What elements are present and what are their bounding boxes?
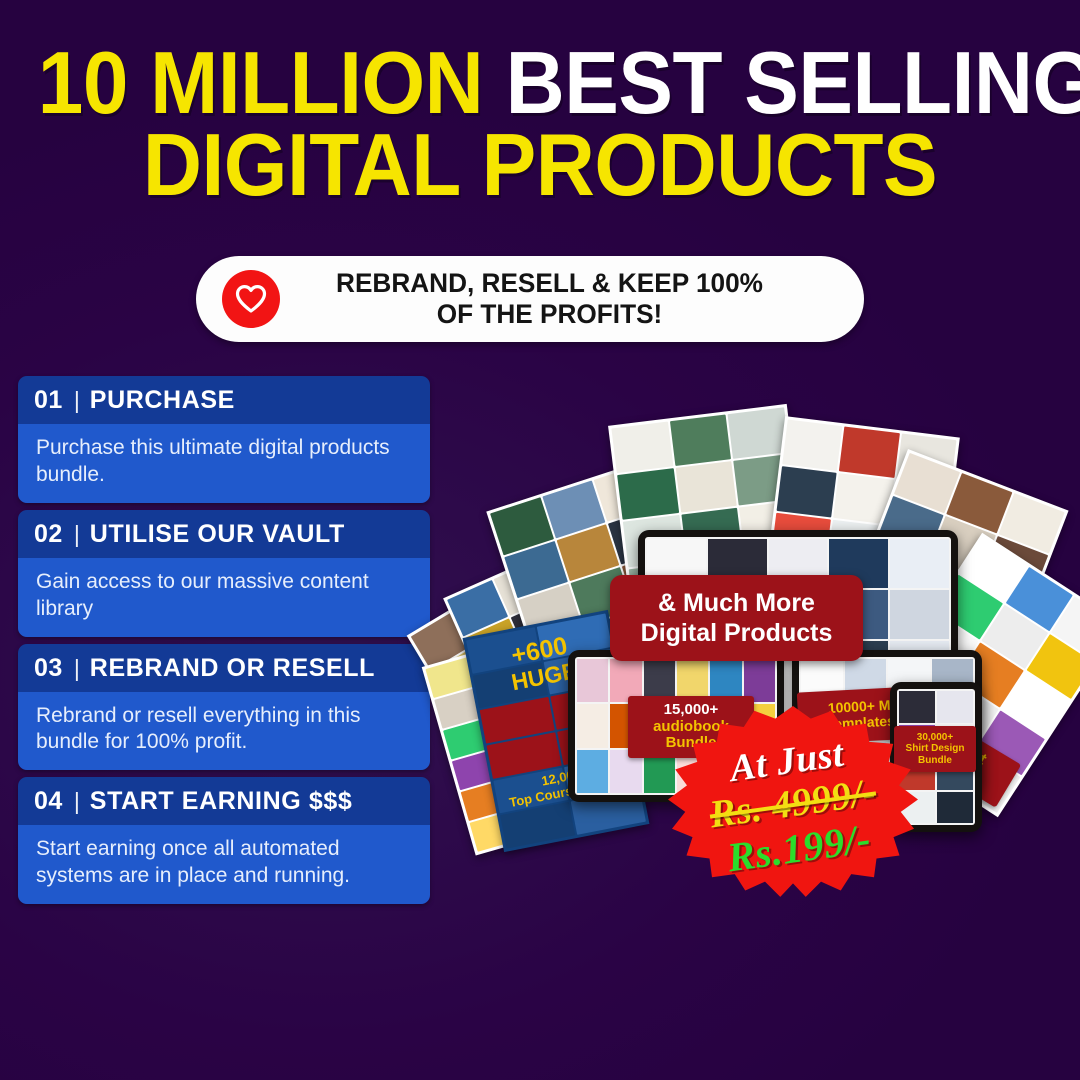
steps-list: 01 | PURCHASE Purchase this ultimate dig… [18,376,430,911]
much-more-line-2: Digital Products [641,618,833,649]
step-header: 02 | UTILISE OUR VAULT [18,510,430,558]
step-description: Start earning once all automated systems… [18,825,430,904]
poster-canvas: 10 MILLION BEST SELLING DIGITAL PRODUCTS… [0,0,1080,1080]
step-separator: | [74,655,80,682]
product-label-line-1: 30,000+ [917,732,953,743]
step-number: 04 [34,787,63,816]
step-title: START EARNING $$$ [90,787,353,816]
step-separator: | [74,521,80,548]
step-title: PURCHASE [90,386,235,415]
tagline-text: REBRAND, RESELL & KEEP 100% OF THE PROFI… [302,268,830,331]
heart-icon [222,270,280,328]
step-separator: | [74,387,80,414]
step-title: REBRAND OR RESELL [90,654,375,683]
step-header: 03 | REBRAND OR RESELL [18,644,430,692]
step-number: 03 [34,654,63,683]
step-description: Rebrand or resell everything in this bun… [18,692,430,771]
step-header: 01 | PURCHASE [18,376,430,424]
list-item[interactable]: 04 | START EARNING $$$ Start earning onc… [18,777,430,904]
tagline-line-2: OF THE PROFITS! [437,299,663,329]
step-separator: | [74,788,80,815]
page-title: 10 MILLION BEST SELLING DIGITAL PRODUCTS [0,42,1080,206]
much-more-line-1: & Much More [658,588,815,619]
list-item[interactable]: 01 | PURCHASE Purchase this ultimate dig… [18,376,430,503]
step-number: 02 [34,520,63,549]
tagline-line-1: REBRAND, RESELL & KEEP 100% [336,268,763,298]
headline-line-1: 10 MILLION BEST SELLING [38,42,1042,124]
list-item[interactable]: 03 | REBRAND OR RESELL Rebrand or resell… [18,644,430,771]
tagline-banner: REBRAND, RESELL & KEEP 100% OF THE PROFI… [196,256,864,342]
list-item[interactable]: 02 | UTILISE OUR VAULT Gain access to ou… [18,510,430,637]
step-description: Gain access to our massive content libra… [18,558,430,637]
step-number: 01 [34,386,63,415]
headline-line-2: DIGITAL PRODUCTS [38,124,1042,206]
price-burst-content: At Just Rs. 4999/- Rs.199/- [655,690,930,921]
much-more-overlay: & Much More Digital Products [610,575,863,661]
step-title: UTILISE OUR VAULT [90,520,345,549]
step-header: 04 | START EARNING $$$ [18,777,430,825]
step-description: Purchase this ultimate digital products … [18,424,430,503]
